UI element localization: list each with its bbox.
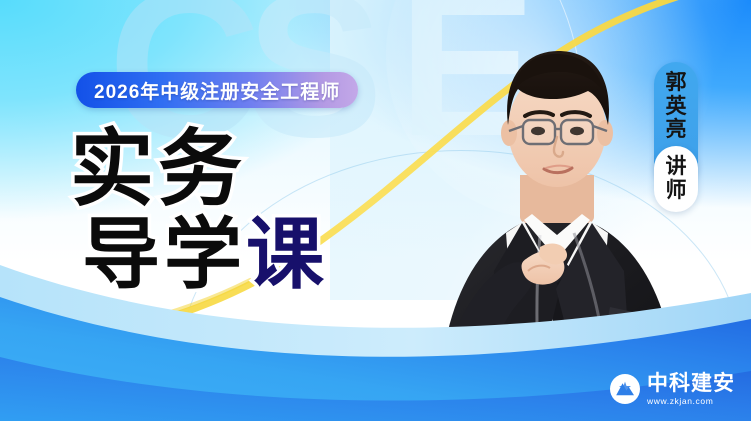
instructor-name-char-2: 英	[666, 95, 687, 119]
mountain-star-icon	[613, 377, 637, 401]
instructor-role-char-2: 师	[666, 179, 687, 203]
instructor-role-char-1: 讲	[666, 155, 687, 179]
headline-line-1: 实务	[70, 128, 328, 210]
headline-line-2-part-2: 课	[246, 210, 328, 298]
course-poster: C S E	[0, 0, 751, 421]
headline-line-2: 导学课	[82, 216, 328, 292]
instructor-role-pill: 讲 师	[654, 146, 698, 212]
instructor-name-char-3: 亮	[666, 118, 687, 142]
brand-url: www.zkjan.com	[647, 397, 735, 406]
brand-logo: 中科建安 www.zkjan.com	[610, 373, 735, 406]
brand-name: 中科建安	[647, 373, 735, 394]
headline-block: 实务 导学课	[70, 128, 328, 293]
brand-mark-icon	[610, 374, 640, 404]
course-badge: 2026年中级注册安全工程师	[76, 72, 358, 108]
headline-line-2-part-1: 导学	[82, 210, 246, 298]
course-badge-label: 2026年中级注册安全工程师	[94, 77, 340, 104]
brand-text-block: 中科建安 www.zkjan.com	[647, 373, 735, 406]
instructor-name-char-1: 郭	[666, 71, 687, 95]
